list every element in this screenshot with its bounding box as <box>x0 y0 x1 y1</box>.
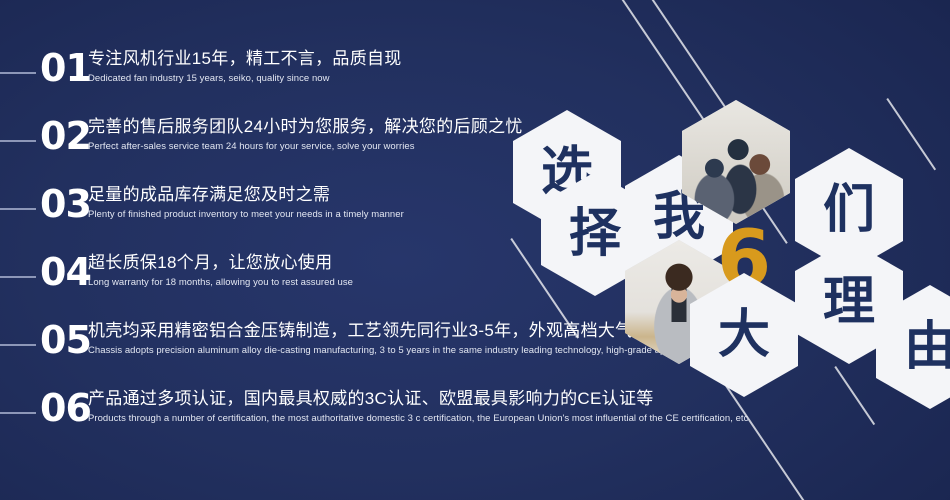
reason-text-group: 专注风机行业15年，精工不言，品质自现 Dedicated fan indust… <box>88 46 402 85</box>
reason-title-en: Products through a number of certificati… <box>88 412 748 425</box>
diagonal-line-7 <box>835 366 875 425</box>
reason-text-group: 足量的成品库存满足您及时之需 Plenty of finished produc… <box>88 182 404 221</box>
reason-number: 05 <box>40 318 91 362</box>
reason-number: 04 <box>40 250 91 294</box>
reason-row: 06 产品通过多项认证，国内最具权威的3C认证、欧盟最具影响力的CE认证等 Pr… <box>0 386 720 454</box>
reason-title-cn: 超长质保18个月，让您放心使用 <box>88 250 353 276</box>
reason-title-en: Perfect after-sales service team 24 hour… <box>88 140 523 153</box>
promo-banner: 01 专注风机行业15年，精工不言，品质自现 Dedicated fan ind… <box>0 0 950 500</box>
row-rule <box>0 140 36 142</box>
reason-number: 06 <box>40 386 91 430</box>
reason-text-group: 产品通过多项认证，国内最具权威的3C认证、欧盟最具影响力的CE认证等 Produ… <box>88 386 748 425</box>
row-rule <box>0 276 36 278</box>
diagonal-line-3 <box>887 98 936 170</box>
reason-row: 01 专注风机行业15年，精工不言，品质自现 Dedicated fan ind… <box>0 46 720 114</box>
reason-title-en: Dedicated fan industry 15 years, seiko, … <box>88 72 402 85</box>
reason-text-group: 超长质保18个月，让您放心使用 Long warranty for 18 mon… <box>88 250 353 289</box>
reason-title-cn: 产品通过多项认证，国内最具权威的3C认证、欧盟最具影响力的CE认证等 <box>88 386 748 412</box>
hex-glyph: 择 <box>569 208 621 260</box>
reason-title-cn: 专注风机行业15年，精工不言，品质自现 <box>88 46 402 72</box>
reason-number: 02 <box>40 114 91 158</box>
reason-title-en: Long warranty for 18 months, allowing yo… <box>88 276 353 289</box>
hex-glyph: 理 <box>823 276 875 328</box>
hex-glyph: 们 <box>823 184 875 236</box>
row-rule <box>0 72 36 74</box>
hex-glyph: 大 <box>718 309 770 361</box>
reason-title-cn: 足量的成品库存满足您及时之需 <box>88 182 404 208</box>
row-rule <box>0 412 36 414</box>
reason-title-en: Plenty of finished product inventory to … <box>88 208 404 221</box>
row-rule <box>0 344 36 346</box>
reason-title-cn: 完善的售后服务团队24小时为您服务，解决您的后顾之忧 <box>88 114 523 140</box>
reason-row: 05 机壳均采用精密铝合金压铸制造，工艺领先同行业3-5年，外观高档大气 Cha… <box>0 318 720 386</box>
reason-number: 03 <box>40 182 91 226</box>
hex-glyph: 由 <box>904 321 950 373</box>
row-rule <box>0 208 36 210</box>
reason-number: 01 <box>40 46 91 90</box>
reason-text-group: 完善的售后服务团队24小时为您服务，解决您的后顾之忧 Perfect after… <box>88 114 523 153</box>
